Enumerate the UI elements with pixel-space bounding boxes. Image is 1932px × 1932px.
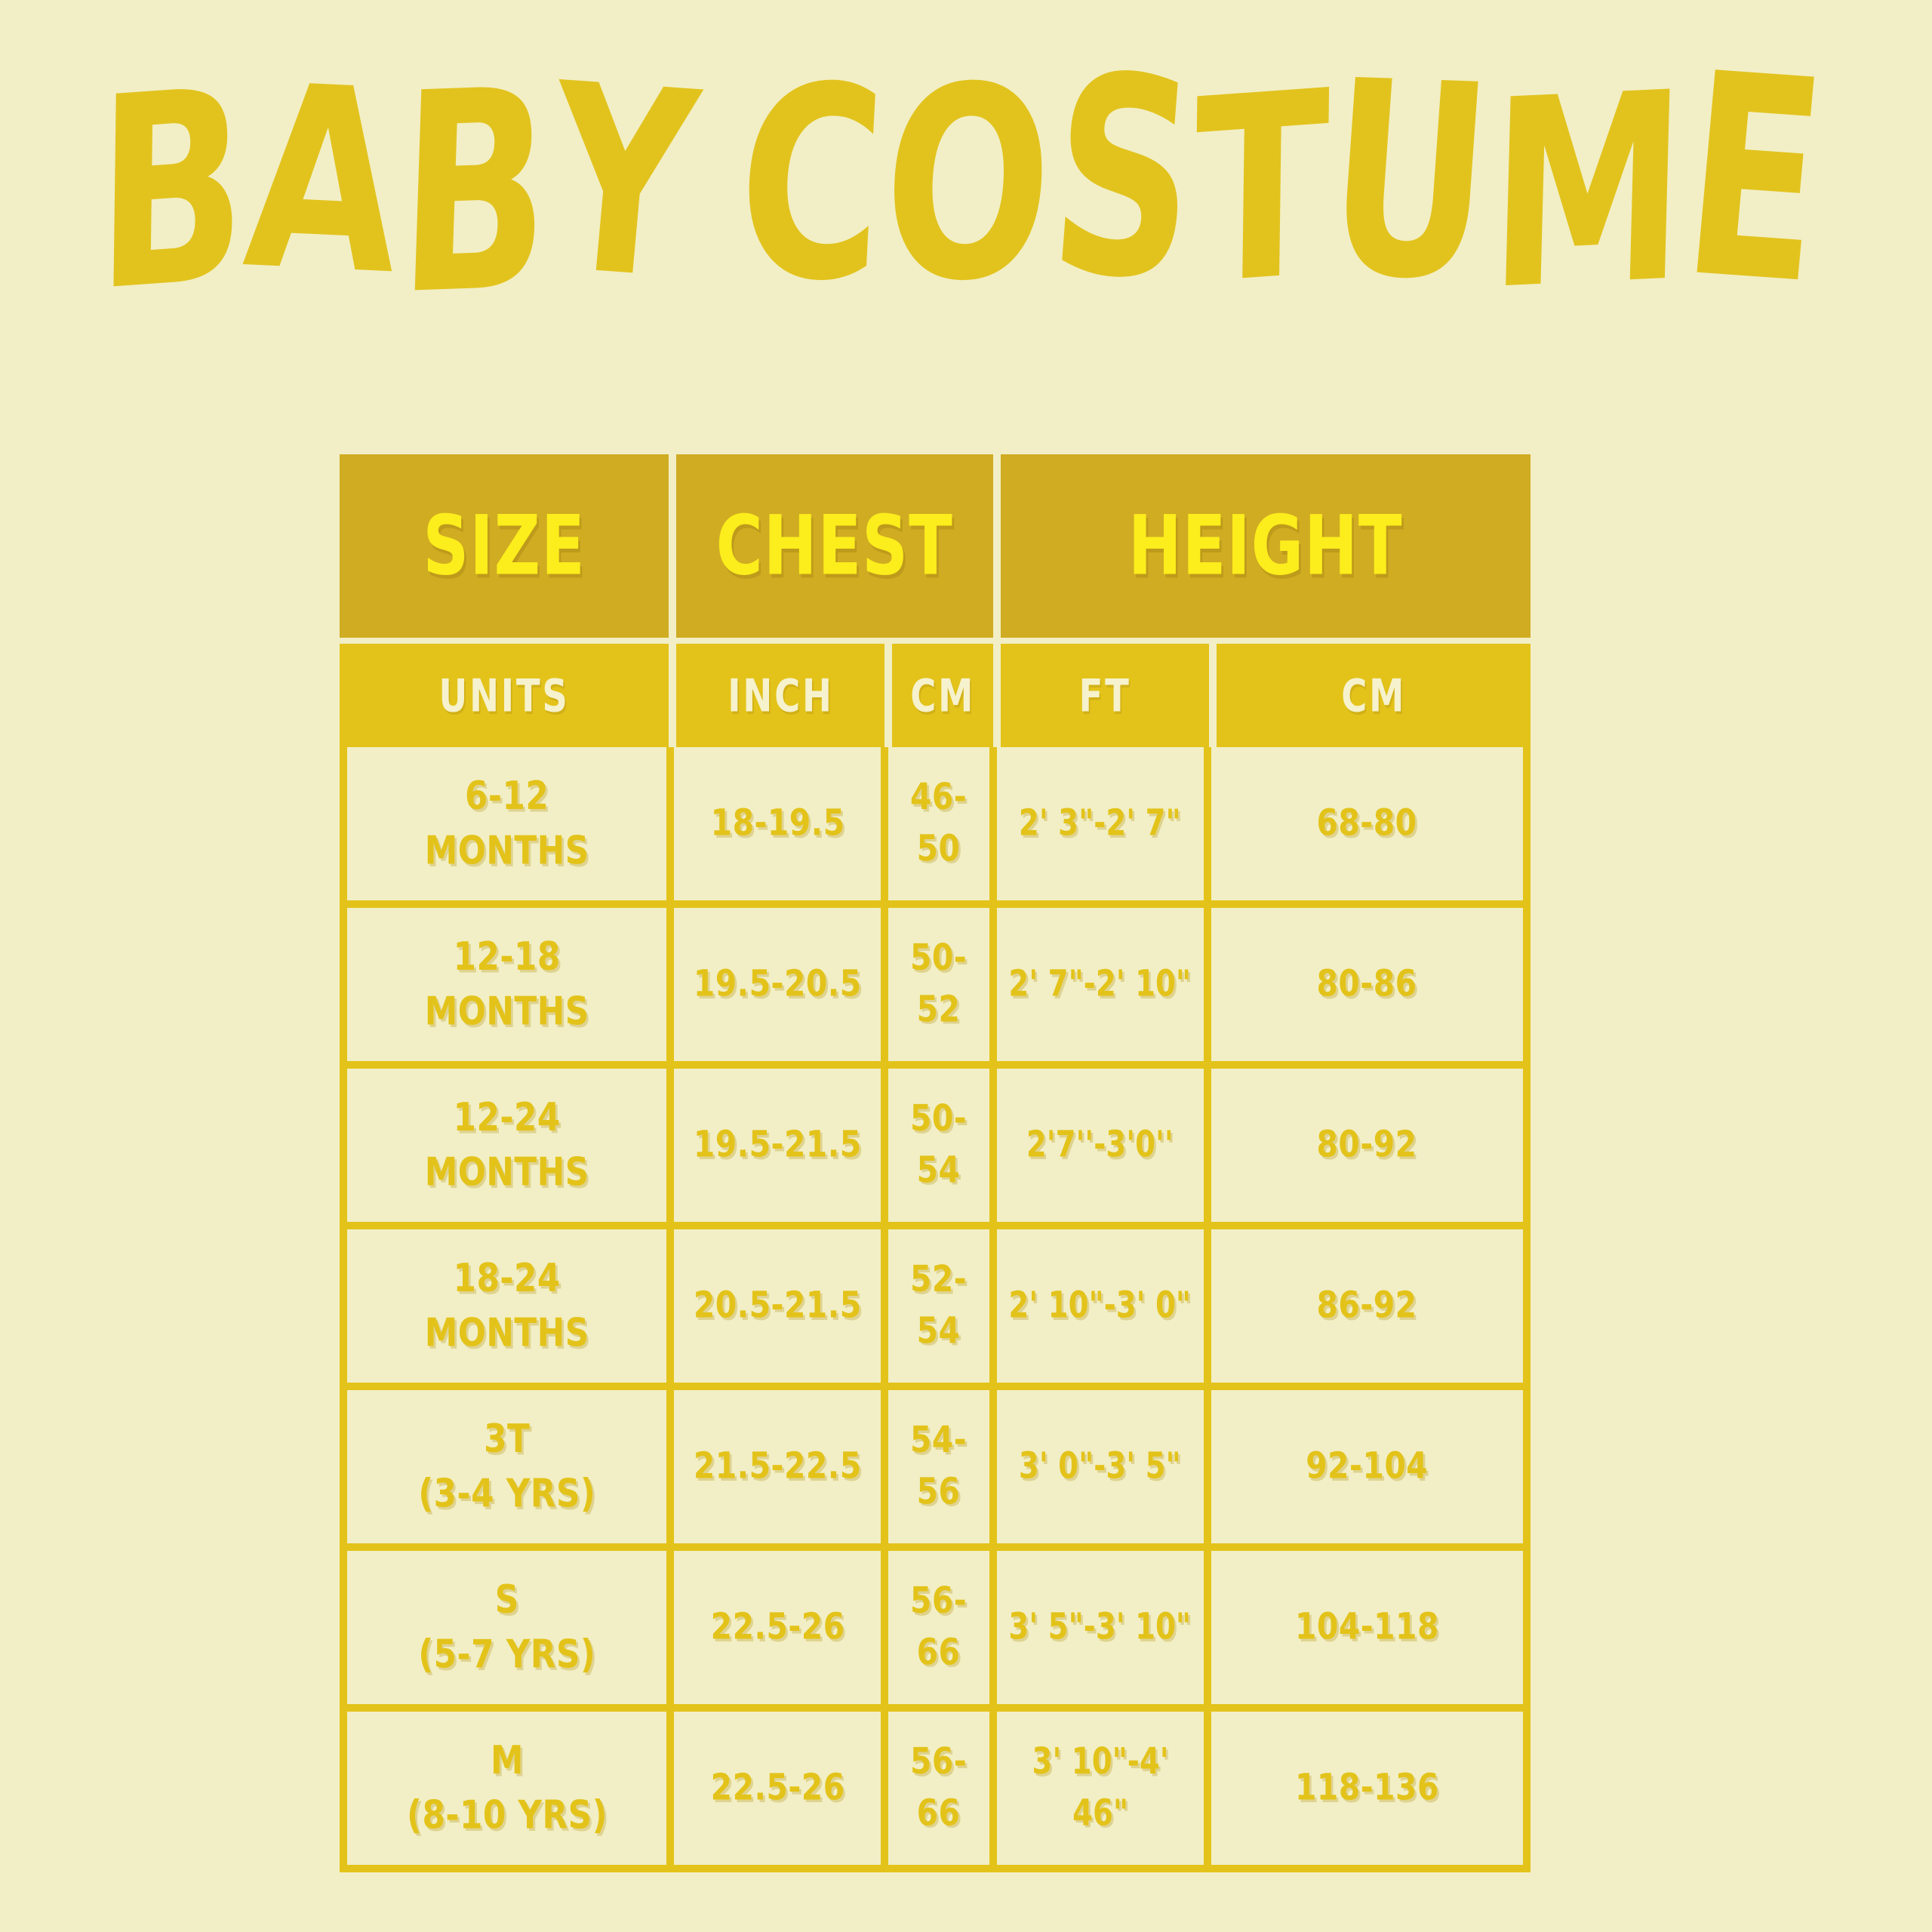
cell-chest-inch-text: 19.5-21.5 [694, 1119, 862, 1171]
group-header-size: SIZE [340, 454, 669, 638]
cell-size-text: S (5-7 YRS) [418, 1572, 595, 1682]
cell-height-ft: 2'7''-3'0'' [997, 1069, 1204, 1222]
cell-height-cm-text: 68-80 [1317, 798, 1417, 849]
cell-size: M (8-10 YRS) [347, 1712, 666, 1865]
cell-height-ft: 3' 10"-4' 46" [997, 1712, 1204, 1865]
title-char: T [1193, 57, 1332, 321]
table-row: 12-24 MONTHS19.5-21.550-542'7''-3'0''80-… [347, 1069, 1523, 1222]
cell-chest-inch-text: 18-19.5 [710, 798, 844, 849]
table-row: 6-12 MONTHS18-19.546-502' 3"-2' 7"68-80 [347, 747, 1523, 900]
cell-height-cm: 80-86 [1211, 908, 1523, 1061]
group-header-chest-label: CHEST [716, 505, 953, 587]
cell-chest-cm-text: 52-54 [891, 1254, 986, 1358]
cell-chest-cm: 56-66 [888, 1551, 989, 1704]
cell-size: 18-24 MONTHS [347, 1229, 666, 1383]
title-char: U [1321, 46, 1500, 319]
cell-chest-inch-text: 19.5-20.5 [694, 958, 862, 1010]
cell-height-ft-text: 3' 5"-3' 10" [1009, 1601, 1192, 1653]
table-row: 12-18 MONTHS19.5-20.550-522' 7"-2' 10"80… [347, 908, 1523, 1061]
size-chart-table: SIZE CHEST HEIGHT UNITS INCH CM FT CM 6-… [340, 454, 1531, 1872]
cell-chest-inch-text: 21.5-22.5 [694, 1441, 862, 1492]
group-header-chest: CHEST [676, 454, 993, 638]
cell-chest-inch: 22.5-26 [674, 1551, 881, 1704]
title-char: B [94, 54, 249, 329]
cell-chest-inch-text: 20.5-21.5 [694, 1280, 862, 1331]
unit-header-chest-cm-label: CM [910, 673, 975, 718]
cell-chest-cm: 56-66 [888, 1712, 989, 1865]
unit-header-row: UNITS INCH CM FT CM [340, 644, 1531, 747]
unit-header-ft-label: FT [1078, 673, 1131, 718]
unit-header-height-cm: CM [1217, 644, 1531, 747]
cell-chest-inch-text: 22.5-26 [710, 1601, 844, 1653]
cell-size: S (5-7 YRS) [347, 1551, 666, 1704]
page-title: BABY COSTUME [0, 53, 1932, 279]
cell-height-ft: 2' 3"-2' 7" [997, 747, 1204, 900]
cell-height-ft-text: 3' 0"-3' 5" [1019, 1441, 1181, 1492]
title-char: A [238, 52, 411, 311]
cell-height-cm-text: 104-118 [1295, 1601, 1439, 1653]
cell-chest-cm-text: 54-56 [891, 1415, 986, 1518]
cell-height-ft: 3' 0"-3' 5" [997, 1390, 1204, 1543]
cell-height-ft: 2' 10"-3' 0" [997, 1229, 1204, 1383]
cell-chest-inch: 22.5-26 [674, 1712, 881, 1865]
unit-header-units: UNITS [340, 644, 669, 747]
cell-height-cm: 104-118 [1211, 1551, 1523, 1704]
table-row: M (8-10 YRS)22.5-2656-663' 10"-4' 46"118… [347, 1712, 1523, 1865]
cell-chest-cm: 54-56 [888, 1390, 989, 1543]
cell-height-cm-text: 92-104 [1306, 1441, 1428, 1492]
cell-chest-cm: 50-54 [888, 1069, 989, 1222]
cell-size: 12-24 MONTHS [347, 1069, 666, 1222]
title-char: C [732, 53, 891, 318]
group-header-size-label: SIZE [423, 505, 585, 587]
unit-header-ft: FT [1001, 644, 1209, 747]
group-header-row: SIZE CHEST HEIGHT [340, 454, 1531, 638]
cell-chest-inch: 18-19.5 [674, 747, 881, 900]
cell-height-ft: 3' 5"-3' 10" [997, 1551, 1204, 1704]
cell-size-text: M (8-10 YRS) [407, 1733, 608, 1843]
cell-height-cm: 86-92 [1211, 1229, 1523, 1383]
cell-chest-cm: 52-54 [888, 1229, 989, 1383]
cell-chest-inch: 21.5-22.5 [674, 1390, 881, 1543]
cell-height-cm-text: 80-92 [1317, 1119, 1417, 1171]
cell-chest-cm-text: 46-50 [891, 772, 986, 875]
cell-chest-inch: 19.5-21.5 [674, 1069, 881, 1222]
group-header-height: HEIGHT [1001, 454, 1531, 638]
group-header-height-label: HEIGHT [1128, 505, 1403, 587]
cell-chest-cm-text: 50-54 [891, 1094, 986, 1197]
cell-size-text: 12-24 MONTHS [425, 1090, 589, 1200]
cell-chest-inch: 19.5-20.5 [674, 908, 881, 1061]
page-title-text: BABY COSTUME [90, 53, 1829, 318]
cell-size-text: 6-12 MONTHS [425, 768, 589, 878]
cell-height-cm: 92-104 [1211, 1390, 1523, 1543]
cell-height-ft-text: 2'7''-3'0'' [1026, 1119, 1174, 1171]
title-char: E [1675, 36, 1835, 324]
title-char: S [1042, 39, 1205, 318]
cell-chest-cm: 46-50 [888, 747, 989, 900]
cell-chest-cm: 50-52 [888, 908, 989, 1061]
cell-height-cm: 118-136 [1211, 1712, 1523, 1865]
unit-header-chest-cm: CM [892, 644, 993, 747]
table-body: 6-12 MONTHS18-19.546-502' 3"-2' 7"68-801… [340, 747, 1531, 1872]
title-char: M [1487, 58, 1690, 327]
title-char: O [878, 53, 1060, 318]
unit-header-units-label: UNITS [438, 673, 569, 718]
cell-height-ft: 2' 7"-2' 10" [997, 908, 1204, 1061]
cell-height-ft-text: 2' 10"-3' 0" [1009, 1280, 1192, 1331]
cell-chest-cm-text: 50-52 [891, 933, 986, 1036]
cell-height-ft-text: 3' 10"-4' 46" [1007, 1737, 1193, 1840]
cell-height-cm: 80-92 [1211, 1069, 1523, 1222]
cell-size-text: 12-18 MONTHS [425, 929, 589, 1039]
unit-header-inch: INCH [676, 644, 884, 747]
cell-height-ft-text: 2' 3"-2' 7" [1019, 798, 1181, 849]
cell-chest-cm-text: 56-66 [891, 1737, 986, 1840]
title-char: Y [540, 50, 706, 317]
cell-height-cm-text: 80-86 [1317, 958, 1417, 1010]
cell-size-text: 3T (3-4 YRS) [418, 1411, 595, 1521]
cell-chest-inch: 20.5-21.5 [674, 1229, 881, 1383]
table-row: 3T (3-4 YRS)21.5-22.554-563' 0"-3' 5"92-… [347, 1390, 1523, 1543]
cell-size: 12-18 MONTHS [347, 908, 666, 1061]
title-char: B [395, 53, 555, 334]
unit-header-inch-label: INCH [728, 673, 833, 718]
cell-size: 3T (3-4 YRS) [347, 1390, 666, 1543]
cell-size-text: 18-24 MONTHS [425, 1251, 589, 1361]
cell-chest-cm-text: 56-66 [891, 1576, 986, 1679]
cell-chest-inch-text: 22.5-26 [710, 1762, 844, 1814]
cell-height-cm: 68-80 [1211, 747, 1523, 900]
table-row: 18-24 MONTHS20.5-21.552-542' 10"-3' 0"86… [347, 1229, 1523, 1383]
cell-height-cm-text: 118-136 [1295, 1762, 1439, 1814]
unit-header-height-cm-label: CM [1341, 673, 1406, 718]
cell-size: 6-12 MONTHS [347, 747, 666, 900]
table-row: S (5-7 YRS)22.5-2656-663' 5"-3' 10"104-1… [347, 1551, 1523, 1704]
cell-height-ft-text: 2' 7"-2' 10" [1009, 958, 1192, 1010]
cell-height-cm-text: 86-92 [1317, 1280, 1417, 1331]
